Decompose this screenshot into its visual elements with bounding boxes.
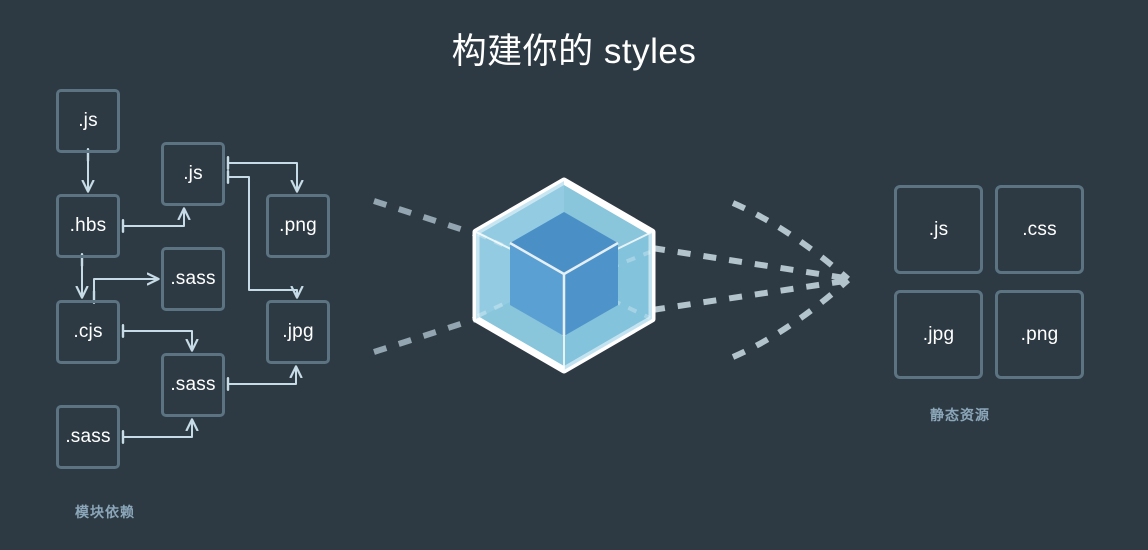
asset-node-jpg[interactable]: .jpg [894,290,983,379]
module-node-cjs[interactable]: .cjs [56,300,120,364]
module-node-sass-2[interactable]: .sass [161,353,225,417]
module-node-js-mid[interactable]: .js [161,142,225,206]
diagram-canvas: 构建你的 styles [0,0,1148,550]
edge-hbs-to-sass-1 [94,279,158,297]
asset-node-png[interactable]: .png [995,290,1084,379]
dashed-output-line-lower [652,281,845,310]
asset-node-css[interactable]: .css [995,185,1084,274]
dashed-input-lines [374,201,482,352]
edge-sass-3-to-sass-2 [123,420,192,437]
edge-cjs-to-sass-2 [123,331,192,350]
static-assets-label: 静态资源 [930,405,990,425]
module-node-sass-1[interactable]: .sass [161,247,225,311]
dashed-input-line-upper [374,201,482,236]
dashed-input-line-lower [374,317,482,352]
dashed-output-line-upper [652,248,845,278]
dashed-output-arrow [652,203,848,357]
module-node-sass-3[interactable]: .sass [56,405,120,469]
module-node-jpg[interactable]: .jpg [266,300,330,364]
module-node-hbs[interactable]: .hbs [56,194,120,258]
webpack-cube-logo [476,181,652,370]
edge-hbs-to-js-mid [123,209,184,226]
module-dependencies-label: 模块依赖 [75,502,135,522]
module-node-png[interactable]: .png [266,194,330,258]
asset-node-js[interactable]: .js [894,185,983,274]
module-node-js-top[interactable]: .js [56,89,120,153]
edge-sass-2-to-jpg [228,367,296,384]
